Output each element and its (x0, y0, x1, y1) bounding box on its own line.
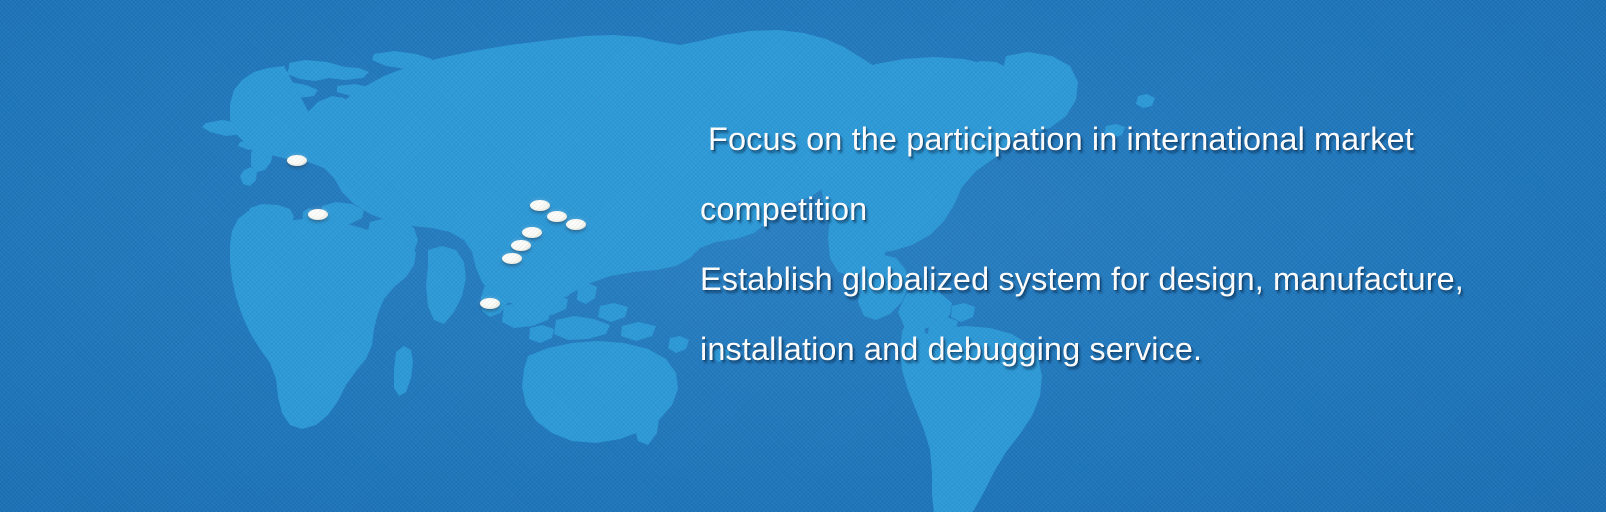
marker-korea[interactable] (530, 200, 550, 211)
marker-south-china[interactable] (502, 253, 522, 264)
marker-northern-europe[interactable] (287, 155, 307, 166)
marker-singapore[interactable] (480, 298, 500, 309)
copy-paragraph-2: Establish globalized system for design, … (700, 244, 1606, 384)
copy-line-2: competition (700, 191, 867, 227)
banner-copy: Focus on the participation in internatio… (700, 104, 1606, 384)
marker-japan-east[interactable] (566, 219, 586, 230)
marker-japan-central[interactable] (547, 211, 567, 222)
marker-southern-europe[interactable] (308, 209, 328, 220)
copy-line-4: installation and debugging service. (700, 331, 1202, 367)
marker-central-china[interactable] (511, 240, 531, 251)
marker-east-china[interactable] (522, 227, 542, 238)
world-map-banner: Focus on the participation in internatio… (0, 0, 1606, 512)
copy-paragraph-1: Focus on the participation in internatio… (700, 104, 1606, 244)
copy-line-3: Establish globalized system for design, … (700, 261, 1464, 297)
copy-line-1: Focus on the participation in internatio… (700, 121, 1414, 157)
